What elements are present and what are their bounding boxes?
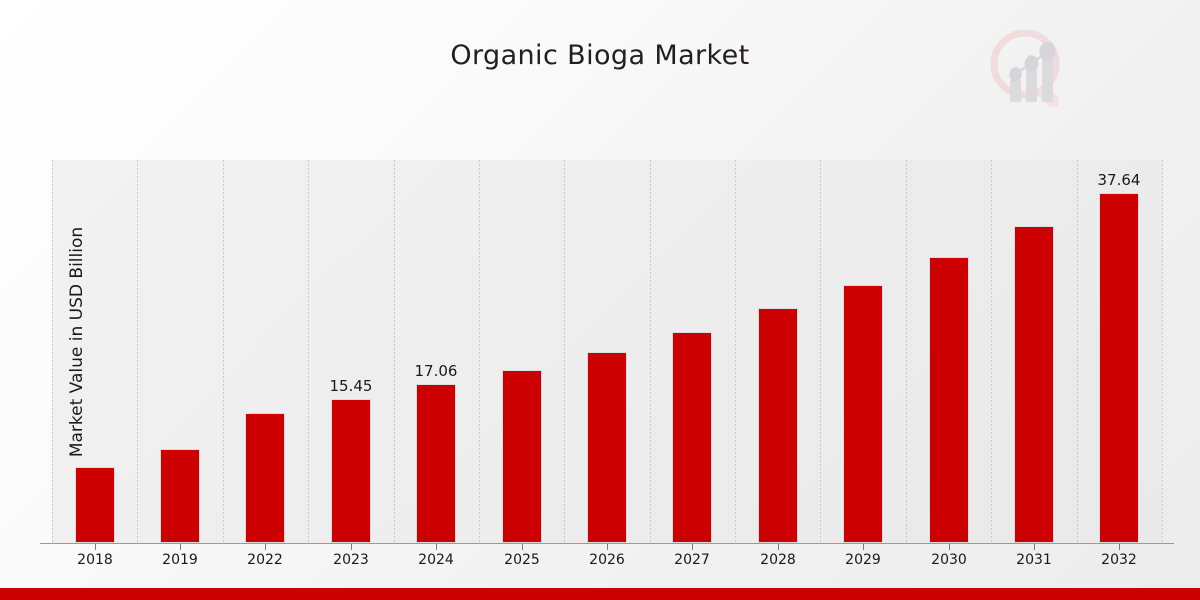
bar-2026[interactable] (587, 352, 627, 543)
gridline (137, 160, 138, 543)
x-tick-label-2024: 2024 (396, 552, 476, 568)
x-tick-label-2022: 2022 (225, 552, 305, 568)
bar-value-label-2032: 37.64 (1079, 171, 1159, 189)
bar-value-label-2024: 17.06 (396, 362, 476, 380)
bar-2028[interactable] (758, 308, 798, 543)
bar-2032[interactable] (1099, 193, 1139, 543)
x-tick-label-2019: 2019 (140, 552, 220, 568)
gridline (1162, 160, 1163, 543)
tickmark-2022 (265, 544, 266, 550)
gridline (223, 160, 224, 543)
tickmark-2032 (1119, 544, 1120, 550)
gridline (479, 160, 480, 543)
tickmark-2023 (351, 544, 352, 550)
tickmark-2024 (436, 544, 437, 550)
gridline (650, 160, 651, 543)
bar-value-label-2023: 15.45 (311, 377, 391, 395)
bar-2029[interactable] (843, 285, 883, 543)
gridline (906, 160, 907, 543)
market-research-magnifier-logo (981, 22, 1077, 118)
tickmark-2027 (692, 544, 693, 550)
bar-2025[interactable] (502, 370, 542, 543)
tickmark-2031 (1034, 544, 1035, 550)
bar-2027[interactable] (672, 332, 712, 543)
bar-2022[interactable] (245, 413, 285, 543)
x-tick-label-2026: 2026 (567, 552, 647, 568)
gridline (1077, 160, 1078, 543)
x-tick-label-2018: 2018 (55, 552, 135, 568)
tickmark-2030 (949, 544, 950, 550)
tickmark-2018 (95, 544, 96, 550)
tickmark-2026 (607, 544, 608, 550)
tickmark-2025 (522, 544, 523, 550)
gridline (308, 160, 309, 543)
y-axis-title: Market Value in USD Billion (67, 177, 87, 507)
bar-2030[interactable] (929, 257, 969, 543)
x-tick-label-2030: 2030 (909, 552, 989, 568)
gridline (735, 160, 736, 543)
footer-accent-strip (0, 588, 1200, 600)
x-tick-label-2031: 2031 (994, 552, 1074, 568)
x-tick-label-2027: 2027 (652, 552, 732, 568)
tickmark-2029 (863, 544, 864, 550)
bar-2031[interactable] (1014, 226, 1054, 543)
bar-2024[interactable] (416, 384, 456, 543)
plot-area: 15.4517.0637.64 201820192022202320242025… (52, 160, 1162, 543)
gridline (820, 160, 821, 543)
x-tick-label-2025: 2025 (482, 552, 562, 568)
gridline (52, 160, 53, 543)
x-tick-label-2029: 2029 (823, 552, 903, 568)
bar-2023[interactable] (331, 399, 371, 543)
x-tick-label-2023: 2023 (311, 552, 391, 568)
gridline (394, 160, 395, 543)
x-tick-label-2032: 2032 (1079, 552, 1159, 568)
x-tick-label-2028: 2028 (738, 552, 818, 568)
chart-canvas: Organic Bioga Market 15.4517.0637.64 (0, 0, 1200, 600)
gridline (564, 160, 565, 543)
bar-2019[interactable] (160, 449, 200, 543)
tickmark-2019 (180, 544, 181, 550)
tickmark-2028 (778, 544, 779, 550)
gridline (991, 160, 992, 543)
